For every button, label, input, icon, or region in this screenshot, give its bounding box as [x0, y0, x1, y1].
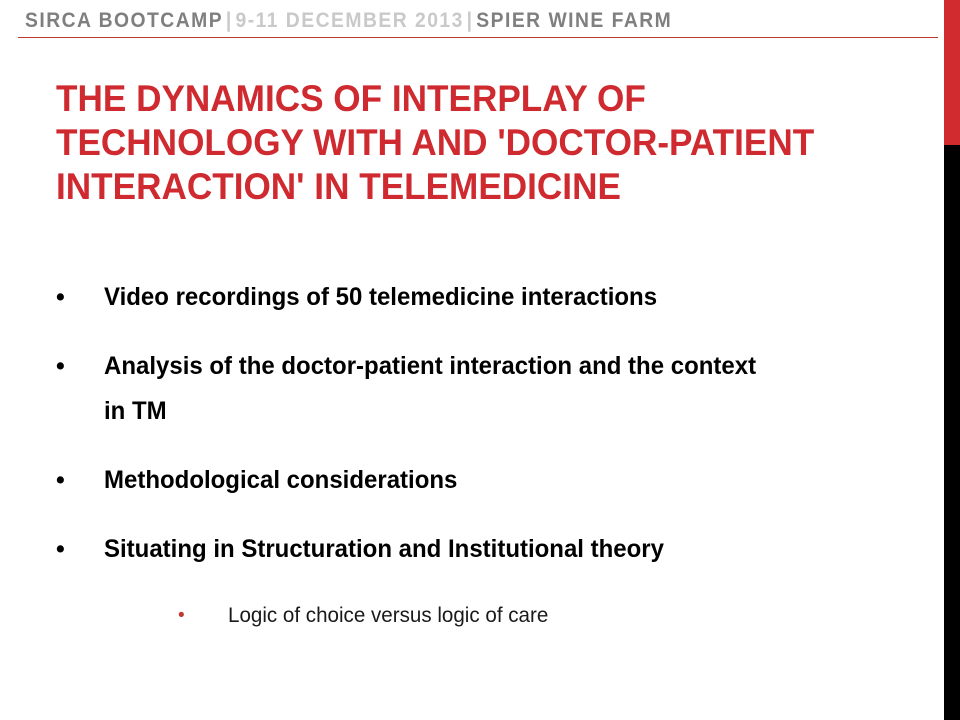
bullet-marker-icon: • — [56, 275, 104, 320]
presentation-slide: SIRCA BOOTCAMP|9-11 DECEMBER 2013|SPIER … — [0, 0, 960, 720]
sub-bullet-marker-icon: • — [178, 596, 228, 636]
slide-title: THE DYNAMICS OF INTERPLAY OF TECHNOLOGY … — [56, 77, 854, 209]
bullet-marker-icon: • — [56, 527, 104, 572]
bullet-marker-icon: • — [56, 458, 104, 503]
header-separator-2: | — [464, 9, 476, 32]
edge-accent-bar-red — [944, 0, 960, 145]
header-separator-1: | — [223, 9, 235, 32]
header-divider-line — [18, 37, 938, 38]
list-item-text: Video recordings of 50 telemedicine inte… — [104, 275, 776, 320]
list-item-text: Methodological considerations — [104, 458, 776, 503]
header-event-name: SIRCA BOOTCAMP — [25, 9, 223, 32]
list-item: • Methodological considerations — [56, 458, 916, 503]
bullet-marker-icon: • — [56, 344, 104, 389]
header-dates: 9-11 DECEMBER 2013 — [235, 9, 463, 32]
sub-list-item: • Logic of choice versus logic of care — [178, 596, 916, 636]
edge-accent-bar-black — [944, 145, 960, 720]
list-item: • Situating in Structuration and Institu… — [56, 527, 916, 572]
slide-header: SIRCA BOOTCAMP|9-11 DECEMBER 2013|SPIER … — [25, 7, 853, 37]
header-venue: SPIER WINE FARM — [476, 9, 672, 32]
list-item-text: Analysis of the doctor-patient interacti… — [104, 344, 776, 434]
list-item-text: Situating in Structuration and Instituti… — [104, 527, 776, 572]
sub-list-item-text: Logic of choice versus logic of care — [228, 596, 855, 636]
list-item: • Analysis of the doctor-patient interac… — [56, 344, 916, 434]
slide-body-bullet-list: • Video recordings of 50 telemedicine in… — [56, 275, 916, 660]
list-item: • Video recordings of 50 telemedicine in… — [56, 275, 916, 320]
